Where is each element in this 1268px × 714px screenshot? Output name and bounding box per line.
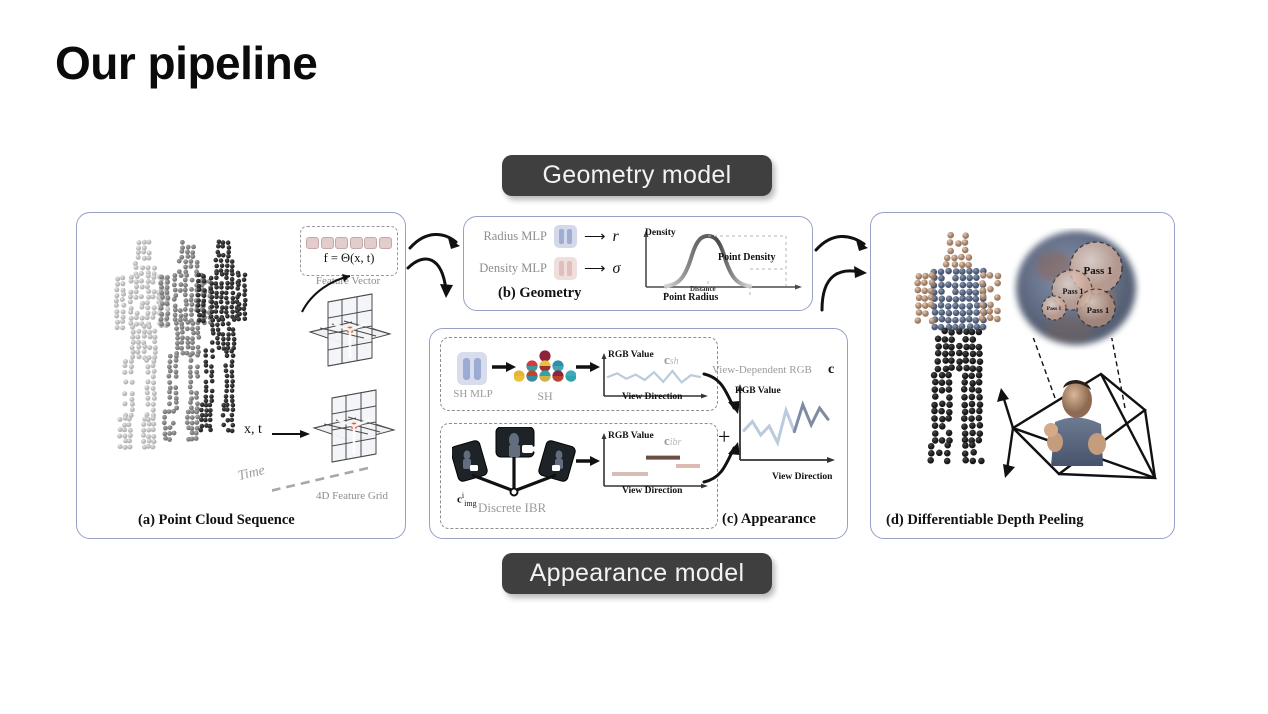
ibr-chart-xlabel: View Direction: [622, 486, 682, 496]
density-mlp-row: Density MLP ⟶ σ: [473, 257, 620, 280]
view-dependent-rgb-title: View-Dependent RGB: [712, 364, 812, 376]
sh-chart-xlabel: View Direction: [622, 392, 682, 402]
page-title: Our pipeline: [55, 40, 317, 86]
density-output-symbol: σ: [613, 260, 621, 278]
radius-mlp-row: Radius MLP ⟶ r: [473, 225, 619, 248]
appearance-model-badge: Appearance model: [502, 553, 772, 594]
flow-arrows-right: [812, 214, 878, 324]
caption-panel-d: (d) Differentiable Depth Peeling: [886, 512, 1083, 529]
point-cloud-sequence-figure: [84, 228, 274, 498]
sh-output-symbol: csh: [664, 352, 679, 368]
sh-chart-ylabel: RGB Value: [608, 350, 654, 360]
feature-vector-box: f = Θ(x, t): [300, 226, 398, 276]
flow-arrows-left: [404, 214, 470, 324]
radius-mlp-label: Radius MLP: [473, 229, 547, 244]
combined-chart-xlabel: View Direction: [772, 472, 832, 482]
sh-label: SH: [527, 389, 563, 404]
caption-panel-a: (a) Point Cloud Sequence: [138, 512, 295, 529]
arrow-right-icon: ⟶: [584, 229, 606, 244]
depth-peeling-magnified-view: Pass 1Pass 1Pass 1Pass 1: [1010, 228, 1144, 350]
sh-mlp-icon: [457, 352, 487, 385]
caption-panel-c: (c) Appearance: [722, 511, 816, 528]
discrete-ibr-label: Discrete IBR: [478, 500, 546, 516]
view-dependent-rgb-symbol: c: [828, 362, 834, 378]
plus-operator: +: [718, 424, 730, 450]
arrow-right-icon: ⟶: [584, 261, 606, 276]
slide-canvas: Our pipeline Geometry model Appearance m…: [0, 0, 1268, 714]
sh-mlp-label: SH MLP: [443, 388, 503, 400]
feature-vector-formula: f = Θ(x, t): [324, 251, 375, 266]
geometry-chart-point-density-label: Point Density: [718, 252, 776, 263]
feature-grid-label: 4D Feature Grid: [292, 490, 412, 502]
geometry-chart-ylabel: Density: [645, 228, 676, 238]
radius-output-symbol: r: [613, 228, 619, 246]
density-mlp-label: Density MLP: [473, 261, 547, 276]
pass-label: Pass 1: [1087, 305, 1109, 315]
pass-label: Pass 1: [1083, 265, 1112, 277]
geometry-model-badge: Geometry model: [502, 155, 772, 196]
feature-grid-figure: [272, 272, 412, 502]
input-xt-label: x, t: [244, 422, 262, 438]
point-density-chart: [636, 229, 808, 301]
discrete-ibr-cameras-figure: [452, 427, 576, 499]
ibr-chart-ylabel: RGB Value: [608, 431, 654, 441]
pass-label: Pass 1: [1047, 306, 1062, 312]
combined-chart-ylabel: RGB Value: [735, 386, 781, 396]
ibr-output-symbol: cibr: [664, 433, 681, 449]
feature-vector-cells: [306, 237, 392, 249]
caption-panel-b: (b) Geometry: [498, 285, 581, 302]
geometry-chart-point-radius-label: Point Radius: [663, 292, 718, 303]
camera-frustum-figure: [985, 338, 1165, 498]
spherical-harmonics-figure: [514, 348, 576, 390]
ibr-image-color-symbol: ciimg: [457, 491, 477, 508]
radius-mlp-icon: [554, 225, 577, 248]
density-mlp-icon: [554, 257, 577, 280]
pass-label: Pass 1: [1062, 287, 1083, 296]
